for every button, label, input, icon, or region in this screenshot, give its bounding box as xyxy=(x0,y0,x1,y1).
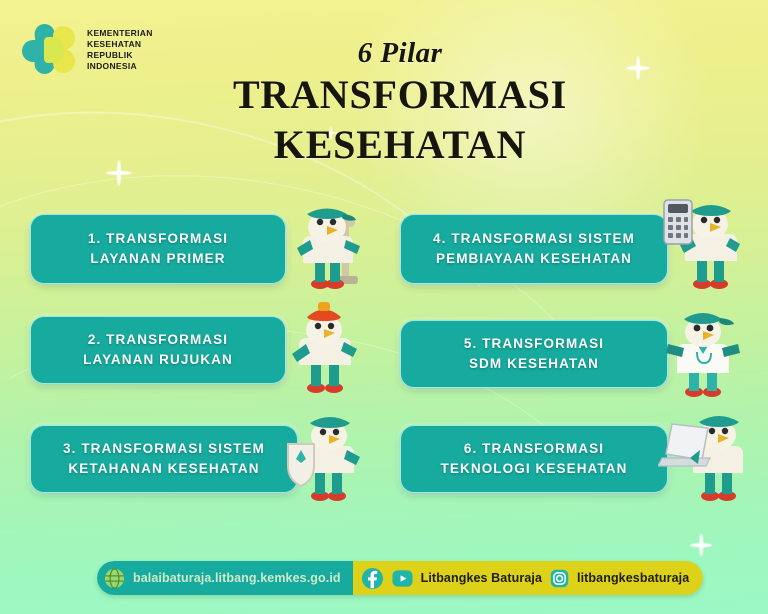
instagram-icon[interactable] xyxy=(549,568,570,589)
poster-canvas: KEMENTERIAN KESEHATAN REPUBLIK INDONESIA… xyxy=(0,0,768,614)
eagle-mascot-with-weighing-scale xyxy=(286,196,364,296)
pillar-label-1: 1. TRANSFORMASI LAYANAN PRIMER xyxy=(88,229,228,270)
eagle-mascot-with-shield xyxy=(286,404,366,508)
logo-text-block: KEMENTERIAN KESEHATAN REPUBLIK INDONESIA xyxy=(87,28,153,72)
pillar-card-5[interactable]: 5. TRANSFORMASI SDM KESEHATAN xyxy=(400,320,668,388)
sparkle-icon xyxy=(106,160,132,186)
footer-website-group[interactable]: balaibaturaja.litbang.kemkes.go.id xyxy=(97,561,353,595)
pillar-card-4[interactable]: 4. TRANSFORMASI SISTEM PEMBIAYAAN KESEHA… xyxy=(400,214,668,284)
pillar-label-4: 4. TRANSFORMASI SISTEM PEMBIAYAAN KESEHA… xyxy=(433,229,635,270)
footer-instagram-handle: litbangkesbaturaja xyxy=(577,571,689,585)
footer-bar: balaibaturaja.litbang.kemkes.go.id Litba… xyxy=(97,561,703,595)
pillar-card-6[interactable]: 6. TRANSFORMASI TEKNOLOGI KESEHATAN xyxy=(400,425,668,493)
pillar-label-5: 5. TRANSFORMASI SDM KESEHATAN xyxy=(464,334,604,375)
title-line-1: TRANSFORMASI xyxy=(190,72,610,117)
kemenkes-logo-icon xyxy=(22,24,78,76)
globe-icon xyxy=(103,567,126,590)
footer-social-group[interactable]: Litbangkes Baturaja litbangkesbaturaja xyxy=(353,561,704,595)
youtube-icon[interactable] xyxy=(391,567,414,590)
logo-line-2: KESEHATAN xyxy=(87,39,153,50)
sparkle-icon xyxy=(690,534,712,556)
title-line-2: KESEHATAN xyxy=(190,122,610,167)
page-title: 6 Pilar TRANSFORMASI KESEHATAN xyxy=(190,38,610,167)
logo-line-1: KEMENTERIAN xyxy=(87,28,153,39)
title-eyebrow: 6 Pilar xyxy=(190,38,610,68)
pillar-label-3: 3. TRANSFORMASI SISTEM KETAHANAN KESEHAT… xyxy=(63,439,265,480)
sparkle-icon xyxy=(626,56,650,80)
kemenkes-logo: KEMENTERIAN KESEHATAN REPUBLIK INDONESIA xyxy=(22,24,153,76)
logo-line-4: INDONESIA xyxy=(87,61,153,72)
logo-line-3: REPUBLIK xyxy=(87,50,153,61)
pillar-card-2[interactable]: 2. TRANSFORMASI LAYANAN RUJUKAN xyxy=(30,316,286,384)
pillar-label-6: 6. TRANSFORMASI TEKNOLOGI KESEHATAN xyxy=(441,439,628,480)
eagle-mascot-with-calculator xyxy=(660,194,742,296)
eagle-mascot-with-red-helmet xyxy=(288,298,362,398)
pillar-card-1[interactable]: 1. TRANSFORMASI LAYANAN PRIMER xyxy=(30,214,286,284)
pillar-card-3[interactable]: 3. TRANSFORMASI SISTEM KETAHANAN KESEHAT… xyxy=(30,425,298,493)
footer-social-name: Litbangkes Baturaja xyxy=(421,571,542,585)
pillar-label-2: 2. TRANSFORMASI LAYANAN RUJUKAN xyxy=(83,330,233,371)
eagle-mascot-doctor-coat xyxy=(664,302,742,402)
eagle-mascot-with-laptop xyxy=(658,406,744,508)
footer-website-text: balaibaturaja.litbang.kemkes.go.id xyxy=(133,571,341,585)
facebook-icon[interactable] xyxy=(361,567,384,590)
